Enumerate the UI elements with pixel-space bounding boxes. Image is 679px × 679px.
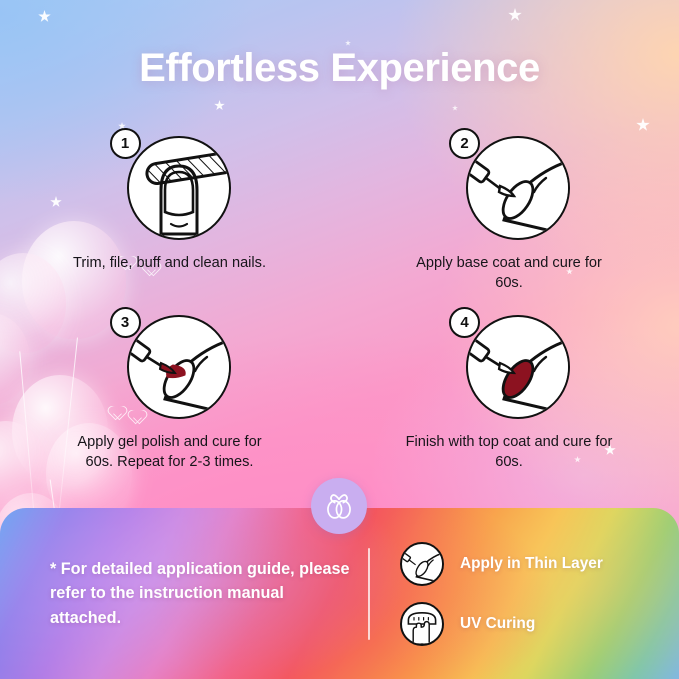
uv-lamp-icon	[400, 602, 444, 646]
poster: Effortless Experience	[0, 0, 679, 679]
gel-polish-brush-icon	[127, 315, 231, 419]
thin-layer-brush-icon	[400, 542, 444, 586]
footer-divider	[368, 548, 370, 640]
step-1: 1 Trim, file, buff and clean nails.	[0, 128, 339, 293]
top-coat-brush-icon	[466, 315, 570, 419]
step-caption: Apply base coat and cure for 60s.	[404, 254, 614, 293]
step-1-illustration: 1	[110, 128, 230, 248]
step-3: 3 Apply gel polish and cure for 60s. Rep…	[0, 307, 339, 472]
footer-features: Apply in Thin Layer	[400, 542, 603, 646]
step-number-badge: 4	[449, 307, 480, 338]
step-number-badge: 2	[449, 128, 480, 159]
steps-grid: 1 Trim, file, buff and clean nails.	[0, 128, 679, 473]
page-title: Effortless Experience	[0, 46, 679, 91]
feature-item: Apply in Thin Layer	[400, 542, 603, 586]
step-number-badge: 3	[110, 307, 141, 338]
steps-row-2: 3 Apply gel polish and cure for 60s. Rep…	[0, 307, 679, 472]
step-caption: Trim, file, buff and clean nails.	[65, 254, 275, 274]
step-4: 4 Finish with top coat and cure for 60s.	[339, 307, 679, 472]
nail-file-icon	[127, 136, 231, 240]
step-2-illustration: 2	[449, 128, 569, 248]
feature-label: Apply in Thin Layer	[460, 555, 603, 573]
brand-logo-badge	[311, 478, 367, 534]
feature-item: UV Curing	[400, 602, 603, 646]
step-caption: Apply gel polish and cure for 60s. Repea…	[65, 433, 275, 472]
step-caption: Finish with top coat and cure for 60s.	[404, 433, 614, 472]
feature-label: UV Curing	[460, 615, 535, 633]
step-2: 2 Apply base coat and cure for 60s.	[339, 128, 679, 293]
footer-note: * For detailed application guide, please…	[50, 557, 350, 631]
base-coat-brush-icon	[466, 136, 570, 240]
steps-row-1: 1 Trim, file, buff and clean nails.	[0, 128, 679, 293]
step-3-illustration: 3	[110, 307, 230, 427]
step-number-badge: 1	[110, 128, 141, 159]
step-4-illustration: 4	[449, 307, 569, 427]
brand-loops-logo	[322, 489, 356, 523]
